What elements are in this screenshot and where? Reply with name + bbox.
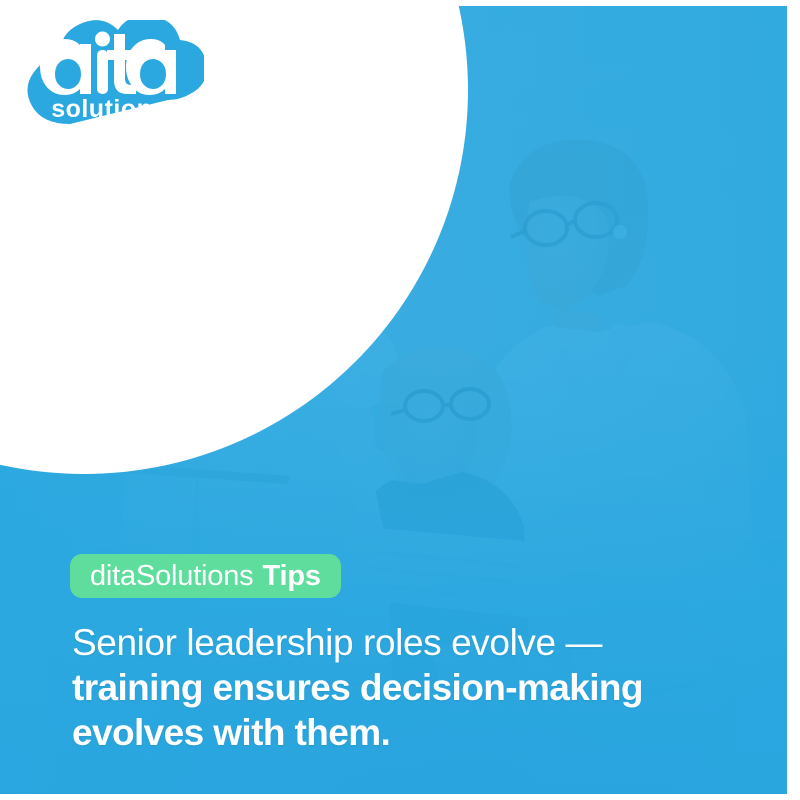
top-margin xyxy=(0,0,800,6)
tips-badge-prefix: ditaSolutions xyxy=(90,562,253,591)
headline-line-bold-1: training ensures decision-making xyxy=(72,665,762,710)
tips-badge-emphasis: Tips xyxy=(262,562,320,591)
blue-background-panel: solutions ditaSolutions Tips Senior lead… xyxy=(0,6,787,794)
social-media-card: solutions ditaSolutions Tips Senior lead… xyxy=(0,0,800,800)
headline: Senior leadership roles evolve — trainin… xyxy=(72,620,762,755)
headline-line-light: Senior leadership roles evolve — xyxy=(72,620,762,665)
cloud-logo-icon: solutions xyxy=(14,20,204,128)
brand-logo[interactable]: solutions xyxy=(14,20,204,128)
tips-badge[interactable]: ditaSolutions Tips xyxy=(70,554,341,598)
right-margin xyxy=(787,0,800,800)
logo-subtitle: solutions xyxy=(51,95,167,123)
bottom-margin xyxy=(0,794,800,800)
headline-line-bold-2: evolves with them. xyxy=(72,710,762,755)
svg-text:solutions: solutions xyxy=(51,95,167,123)
